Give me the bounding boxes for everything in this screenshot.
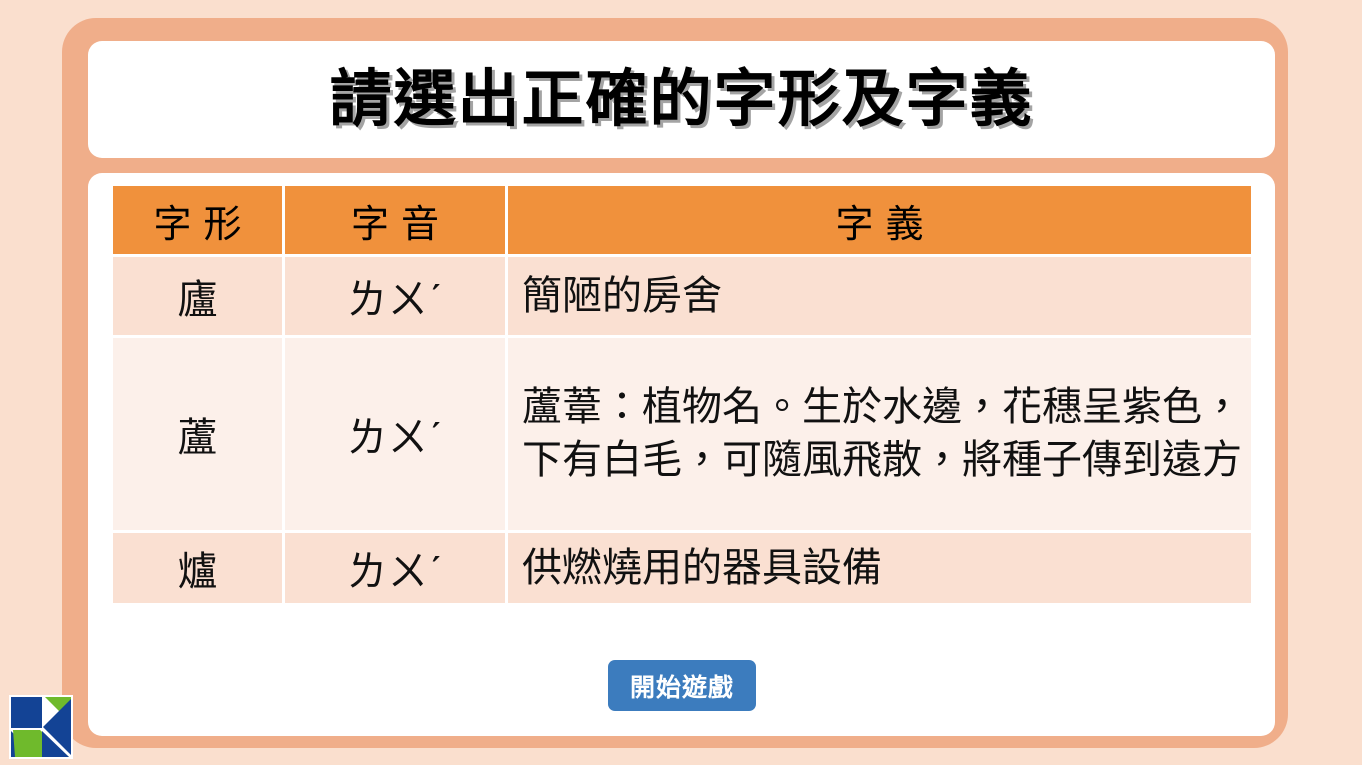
table-header-row: 字形 字音 字義 bbox=[113, 186, 1251, 257]
cell-character: 爐 bbox=[113, 533, 285, 603]
table-row: 蘆 ㄌㄨˊ 蘆葦：植物名。生於水邊，花穗呈紫色，下有白毛，可隨風飛散，將種子傳到… bbox=[113, 338, 1251, 533]
table-row: 爐 ㄌㄨˊ 供燃燒用的器具設備 bbox=[113, 533, 1251, 603]
cell-zhuyin: ㄌㄨˊ bbox=[285, 257, 508, 338]
tangram-square-logo bbox=[9, 695, 73, 759]
slide-stage: 請選出正確的字形及字義 字形 字音 字義 廬 ㄌㄨˊ 簡陋的房舍 bbox=[0, 0, 1362, 765]
cell-meaning: 蘆葦：植物名。生於水邊，花穗呈紫色，下有白毛，可隨風飛散，將種子傳到遠方 bbox=[508, 338, 1251, 533]
cell-character: 廬 bbox=[113, 257, 285, 338]
column-header-form: 字形 bbox=[113, 186, 285, 257]
table-header: 字形 字音 字義 bbox=[113, 186, 1251, 257]
table-body: 廬 ㄌㄨˊ 簡陋的房舍 蘆 ㄌㄨˊ 蘆葦：植物名。生於水邊，花穗呈紫色，下有白毛… bbox=[113, 257, 1251, 603]
table-row: 廬 ㄌㄨˊ 簡陋的房舍 bbox=[113, 257, 1251, 338]
cell-zhuyin: ㄌㄨˊ bbox=[285, 338, 508, 533]
start-game-button[interactable]: 開始遊戲 bbox=[608, 660, 756, 711]
column-header-sound: 字音 bbox=[285, 186, 508, 257]
column-header-mean: 字義 bbox=[508, 186, 1251, 257]
content-card: 字形 字音 字義 廬 ㄌㄨˊ 簡陋的房舍 蘆 ㄌㄨˊ 蘆葦：植物名。生於水邊，花… bbox=[88, 173, 1275, 736]
cell-character: 蘆 bbox=[113, 338, 285, 533]
cell-meaning: 供燃燒用的器具設備 bbox=[508, 533, 1251, 603]
cell-zhuyin: ㄌㄨˊ bbox=[285, 533, 508, 603]
cell-meaning: 簡陋的房舍 bbox=[508, 257, 1251, 338]
page-title: 請選出正確的字形及字義 bbox=[329, 69, 1033, 131]
title-card: 請選出正確的字形及字義 bbox=[88, 41, 1275, 158]
character-table: 字形 字音 字義 廬 ㄌㄨˊ 簡陋的房舍 蘆 ㄌㄨˊ 蘆葦：植物名。生於水邊，花… bbox=[113, 186, 1251, 603]
